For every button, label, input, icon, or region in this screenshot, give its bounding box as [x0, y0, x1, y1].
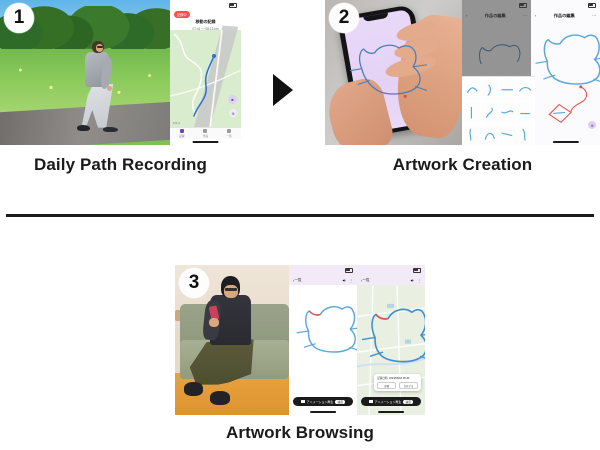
phone-notch: [363, 13, 388, 21]
list-icon: [227, 129, 231, 133]
step-1-panel: 1: [0, 0, 241, 190]
stroke-thumb[interactable]: [464, 102, 481, 124]
top-bar: ‹ 一覧 ⎆ ⋮: [289, 265, 357, 285]
step-3-screenshot-artwork: ‹ 一覧 ⎆ ⋮ アニメーション再生 速度: [289, 265, 357, 415]
play-icon: [369, 400, 373, 404]
home-indicator: [192, 141, 219, 143]
person-shoe-left: [77, 125, 90, 132]
nav-bar: ‹ 一覧 ⎆ ⋮: [289, 275, 357, 285]
person-hand: [209, 318, 219, 327]
stroke-thumb[interactable]: [499, 124, 516, 145]
battery-icon: [413, 268, 421, 273]
stroke-thumb[interactable]: [517, 79, 534, 101]
person-shoe-right: [103, 127, 118, 133]
stroke-thumb[interactable]: [499, 102, 516, 124]
artwork-info-callout[interactable]: 記録日時: 2024/06/18 08:40 詳細 共有する: [374, 374, 421, 391]
status-bar: [462, 0, 531, 10]
cat-artwork-display[interactable]: [289, 291, 357, 391]
sandal-left: [184, 382, 203, 396]
stroke-thumb[interactable]: [499, 79, 516, 101]
nav-bar: ‹ 作品の編集 ⋯: [462, 10, 531, 21]
locate-me-button[interactable]: ⊕: [229, 109, 237, 117]
step-2-caption: Artwork Creation: [325, 155, 600, 175]
playback-label: アニメーション再生: [307, 400, 334, 404]
status-indicators: [229, 3, 237, 8]
step-1-badge: 1: [4, 3, 34, 33]
stroke-thumb[interactable]: [482, 79, 499, 101]
step-3-number: 3: [189, 272, 200, 294]
system-overview-figure: 1: [0, 0, 600, 450]
record-stop-button[interactable]: ■: [228, 95, 237, 104]
record-icon: [180, 129, 184, 133]
play-triangle-icon: [271, 73, 295, 107]
status-bar: [170, 0, 241, 10]
map-roads: [357, 285, 425, 415]
tab-artwork[interactable]: 作品: [203, 129, 208, 138]
step-3-screenshot-map: ‹ 一覧 ⎆ ⋮: [357, 265, 425, 415]
status-bar: [289, 265, 357, 275]
battery-icon: [588, 3, 596, 8]
battery-icon: [229, 3, 237, 8]
step-3-panel: 3: [175, 265, 425, 450]
battery-icon: [519, 3, 527, 8]
animation-playback-bar[interactable]: アニメーション再生 速度: [361, 397, 421, 406]
nav-title: 一覧: [362, 278, 369, 283]
home-indicator: [378, 411, 404, 413]
menu-button[interactable]: ⋯: [523, 13, 527, 18]
bottom-tab-bar: 記録 作品 一覧: [170, 127, 241, 139]
recording-title: 移動の記録: [170, 19, 241, 25]
step-3-badge: 3: [179, 268, 209, 298]
top-bar: ‹ 一覧 ⎆ ⋮: [357, 265, 425, 285]
sunglasses-icon: [97, 46, 104, 48]
add-stroke-button[interactable]: ⊕: [588, 121, 596, 129]
step-2-panel: 2: [325, 0, 600, 190]
step-3-media: 3: [175, 265, 425, 415]
stroke-thumb[interactable]: [517, 102, 534, 124]
step-1-number: 1: [14, 7, 25, 29]
stroke-thumb[interactable]: [482, 124, 499, 145]
flow-arrow: [270, 70, 296, 110]
stroke-thumb[interactable]: [464, 124, 481, 145]
tab-record[interactable]: 記録: [179, 129, 184, 138]
map-canvas[interactable]: ■ ⊕ 100 m: [170, 30, 241, 128]
section-divider: [6, 214, 594, 217]
home-indicator: [552, 141, 578, 143]
status-bar: [357, 265, 425, 275]
pencil-icon: [203, 129, 207, 133]
status-indicators: [519, 3, 527, 8]
stroke-thumb[interactable]: [482, 102, 499, 124]
map-canvas[interactable]: 記録日時: 2024/06/18 08:40 詳細 共有する: [357, 285, 425, 415]
recording-badge: 記録中: [174, 11, 190, 18]
cat-artwork-preview: [344, 32, 443, 107]
step-1-caption: Daily Path Recording: [0, 155, 241, 175]
step-2-screenshot-editor: ‹ 作品の編集 ⋯ ⊕: [531, 0, 600, 145]
eyeglasses-icon: [225, 288, 236, 292]
status-bar: [531, 0, 600, 10]
playback-label: アニメーション再生: [375, 400, 402, 404]
more-icon[interactable]: ⋮: [417, 278, 421, 283]
status-indicators: [413, 268, 421, 273]
stroke-gallery[interactable]: [462, 76, 535, 145]
speed-chip[interactable]: 速度: [403, 400, 413, 404]
share-icon[interactable]: ⎆: [411, 278, 414, 283]
step-2-screenshot-group: ‹ 作品の編集 ⋯: [462, 0, 531, 145]
callout-buttons: 詳細 共有する: [377, 382, 418, 389]
step-2-badge: 2: [329, 3, 359, 33]
nav-title: 作品の編集: [467, 13, 523, 19]
track-start-dot: [212, 54, 216, 58]
play-icon: [301, 400, 305, 404]
home-indicator: [310, 411, 336, 413]
more-icon[interactable]: ⋮: [349, 278, 353, 283]
step-1-screenshot-recording: 記録中 移動の記録 07:41 ～ 08:13 km ■ ⊕: [170, 0, 241, 145]
callout-share-button[interactable]: 共有する: [399, 382, 418, 389]
step-2-media: 2: [325, 0, 600, 145]
walking-person: [68, 41, 129, 137]
step-1-media: 1: [0, 0, 241, 145]
person-face: [224, 285, 238, 299]
map-scale-label: 100 m: [173, 122, 180, 125]
speed-chip[interactable]: 速度: [335, 400, 345, 404]
step-2-number: 2: [339, 7, 350, 29]
tab-list[interactable]: 一覧: [227, 129, 232, 138]
nav-bar: ‹ 一覧 ⎆ ⋮: [357, 275, 425, 285]
stroke-thumb[interactable]: [517, 124, 534, 145]
callout-text: 記録日時: 2024/06/18 08:40: [377, 376, 418, 380]
callout-detail-button[interactable]: 詳細: [377, 382, 396, 389]
nav-bar: ‹ 作品の編集 ⋯: [531, 10, 600, 21]
share-icon[interactable]: ⎆: [343, 278, 346, 283]
animation-playback-bar[interactable]: アニメーション再生 速度: [293, 397, 353, 406]
nav-title: 作品の編集: [536, 13, 592, 19]
status-indicators: [345, 268, 353, 273]
step-3-caption: Artwork Browsing: [175, 423, 425, 443]
stroke-thumb[interactable]: [464, 79, 481, 101]
nav-title: 一覧: [294, 278, 301, 283]
battery-icon: [345, 268, 353, 273]
menu-button[interactable]: ⋯: [592, 13, 596, 18]
status-indicators: [588, 3, 596, 8]
sandal-right: [210, 391, 229, 405]
